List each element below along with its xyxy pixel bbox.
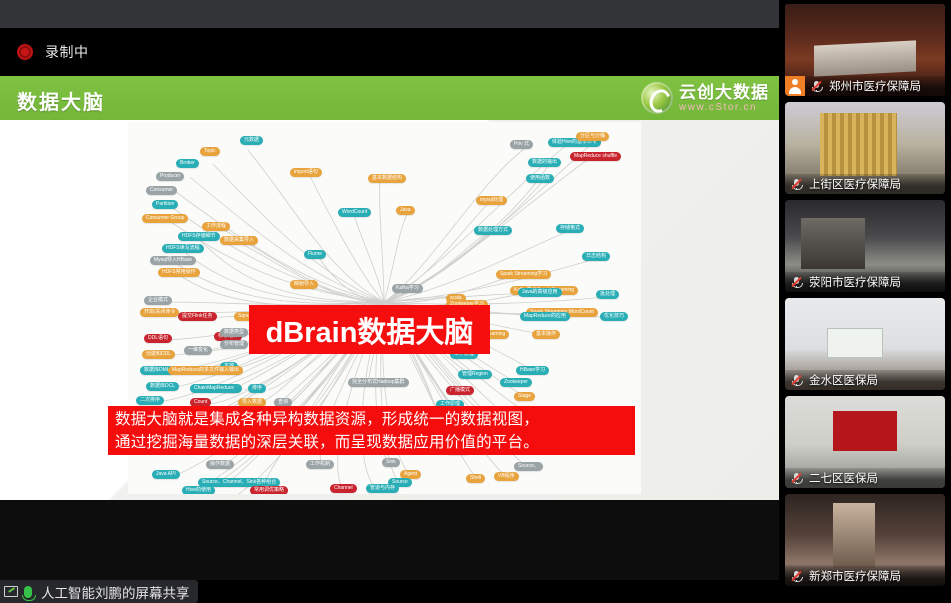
mindmap-node: 基本数据结构 [368,174,406,183]
mindmap-node: 企业模式 [144,296,172,305]
mindmap-node: 数据处理方式 [474,226,512,235]
mindmap-node: DDL语句 [144,334,172,343]
mindmap-node: Shell [466,474,485,483]
meeting-window: 录制中 数据大脑 云创大数据 www.cStor.cn [0,0,951,603]
mindmap-node: 管理Region [458,370,492,379]
mindmap-node: MapReduce的多文件输入输出 [168,366,243,375]
mindmap-node: MapReduce的应用 [520,312,570,321]
screen-share-status-chip[interactable]: 人工智能刘鹏的屏幕共享 [0,580,198,603]
participant-name-bar: 金水区医保局 [785,370,945,390]
mindmap-node: Source、 [514,462,543,471]
mindmap-node: MapReduce shuffle [570,152,621,161]
mindmap-node: 工作流程 [202,222,230,231]
mindmap-node: 工作机制 [306,460,334,469]
mindmap-node: Topic [200,147,220,156]
mic-muted-icon[interactable] [809,79,824,94]
mindmap-node: Flume [304,250,326,259]
mindmap-node: VB程序 [494,472,519,481]
slide-description-box: 数据大脑就是集成各种异构数据资源，形成统一的数据视图， 通过挖掘海量数据的深层关… [108,406,635,455]
description-line-2: 通过挖掘海量数据的深层关联，而呈现数据应用价值的平台。 [115,431,628,454]
participant-name: 二七区医保局 [809,470,878,486]
mic-muted-icon[interactable] [789,275,804,290]
mindmap-node: Sink [382,458,400,467]
mindmap-node: 使用函数 [526,174,554,183]
mindmap-node: 创建和DDL [142,350,175,359]
participant-name-bar: 荥阳市医疗保障局 [785,272,945,292]
mindmap-node: HDFS读写流程 [162,244,204,253]
mic-muted-icon[interactable] [789,471,804,486]
mindmap-node: 存储格式 [556,224,584,233]
microphone-icon[interactable] [24,586,32,598]
mindmap-node: 映射导入 [290,280,318,289]
participant-tile[interactable]: 二七区医保局 [785,396,945,488]
slide-underlay [0,500,779,580]
mic-muted-icon[interactable] [789,569,804,584]
mindmap-node: HBase学习 [516,366,549,375]
brand-url: www.cStor.cn [679,103,769,113]
mindmap-node: 开启/关闭命令 [140,308,179,317]
participant-name-bar: 上街区医疗保障局 [785,174,945,194]
mindmap-node: 广播模式 [446,386,474,395]
mindmap-node: Java的高级应用 [518,288,562,297]
participant-name-bar: 新郑市医疗保障局 [785,566,945,586]
shared-screen-area[interactable]: 数据大脑 云创大数据 www.cStor.cn [0,76,779,580]
mindmap-node: Hive的使用 [182,486,215,494]
slide-main-title: dBrain数据大脑 [249,305,490,354]
mindmap-node: Channel [330,484,357,493]
mindmap-node: mysql处理 [476,196,507,205]
mindmap-node: Priv 式 [510,140,533,149]
recording-indicator-icon [17,44,33,60]
participant-tile[interactable]: 上街区医疗保障局 [785,102,945,194]
participant-name: 郑州市医疗保障局 [829,78,921,94]
mic-muted-icon[interactable] [789,373,804,388]
bottom-status-bar: 人工智能刘鹏的屏幕共享 [0,580,779,603]
slide-header: 数据大脑 云创大数据 www.cStor.cn [0,76,779,120]
participant-tile[interactable]: 金水区医保局 [785,298,945,390]
mindmap-node: ChainMapReduce [190,384,238,393]
mindmap-node: 完全分布式Hadoop集群 [348,378,409,387]
screen-share-icon [4,586,18,597]
mindmap-node: 操作数据 [206,460,234,469]
mindmap-node: 优化技巧 [600,312,628,321]
mindmap-node: 批处理 [596,290,619,299]
mindmap-node: import语句 [290,168,322,177]
mindmap-node: 数据类型 [220,328,248,337]
participant-tile[interactable]: 荥阳市医疗保障局 [785,200,945,292]
mindmap-node: Producer [156,172,184,181]
mindmap-node: 元数据 [240,136,263,145]
participant-name-bar: 二七区医保局 [785,468,945,488]
avatar [785,76,805,96]
mindmap-node: Consumer Group [142,214,188,223]
mindmap-node: Mysql导入HBase [150,256,196,265]
mindmap-node: 排序 [248,384,266,393]
mindmap-node: 常用调优策略 [250,486,288,494]
mindmap-node: Spark Streaming学习 [496,270,551,279]
mindmap-node: 分区与分桶 [576,132,609,141]
mindmap-node: 分布管理 [220,340,248,349]
mindmap-node: Broker [176,159,199,168]
participant-name: 上街区医疗保障局 [809,176,901,192]
mindmap-node: Kafka学习 [392,284,423,293]
window-titlebar [0,0,779,28]
description-line-1: 数据大脑就是集成各种异构数据资源，形成统一的数据视图， [115,408,628,431]
mindmap-node: HDFS存储细节 [178,232,220,241]
mindmap-node: 一维变化 [184,346,212,355]
mindmap-node: Zookeeper [500,378,532,387]
mindmap-node: 管道与内存 [366,484,399,493]
mic-muted-icon[interactable] [789,177,804,192]
participant-tile[interactable]: 郑州市医疗保障局 [785,4,945,96]
slide-main-title-text: dBrain数据大脑 [266,309,474,351]
mindmap-node: Java API [152,470,180,479]
participant-tile[interactable]: 新郑市医疗保障局 [785,494,945,586]
brand-name: 云创大数据 [679,84,769,101]
slide-canvas: 元数据TopicBrokerProducerConsumerPartitionC… [0,120,779,500]
mindmap-node: HDFS常用操作 [158,268,200,277]
participant-name: 新郑市医疗保障局 [809,568,901,584]
mindmap-node: 基本操作 [532,330,560,339]
presentation-slide: 数据大脑 云创大数据 www.cStor.cn [0,76,779,500]
recording-label: 录制中 [45,42,89,62]
participant-name: 荥阳市医疗保障局 [809,274,901,290]
brand-logo: 云创大数据 www.cStor.cn [641,81,769,115]
mindmap-node: 数据库DCL [146,382,179,391]
participant-name-bar: 郑州市医疗保障局 [785,76,945,96]
cstor-swirl-icon [641,82,673,114]
mindmap-node: Stage [514,392,535,401]
mindmap-node: Partition [152,200,178,209]
participant-name: 金水区医保局 [809,372,878,388]
screen-share-label: 人工智能刘鹏的屏幕共享 [41,582,190,602]
participant-video-strip[interactable]: 郑州市医疗保障局上街区医疗保障局荥阳市医疗保障局金水区医保局二七区医保局新郑市医… [779,0,951,603]
mindmap-node: Java [396,206,415,215]
mindmap-node: 日志结构 [582,252,610,261]
recording-bar: 录制中 [0,28,779,76]
mindmap-node: WordCount [338,208,371,217]
mindmap-node: 数据的输出 [528,158,561,167]
mindmap-node: Consumer [146,186,177,195]
mindmap-node: 二次排序 [136,396,164,405]
mindmap-node: 提交Flink任务 [178,312,217,321]
mindmap-node: 数据采集导入 [220,236,258,245]
slide-header-title: 数据大脑 [17,86,105,115]
